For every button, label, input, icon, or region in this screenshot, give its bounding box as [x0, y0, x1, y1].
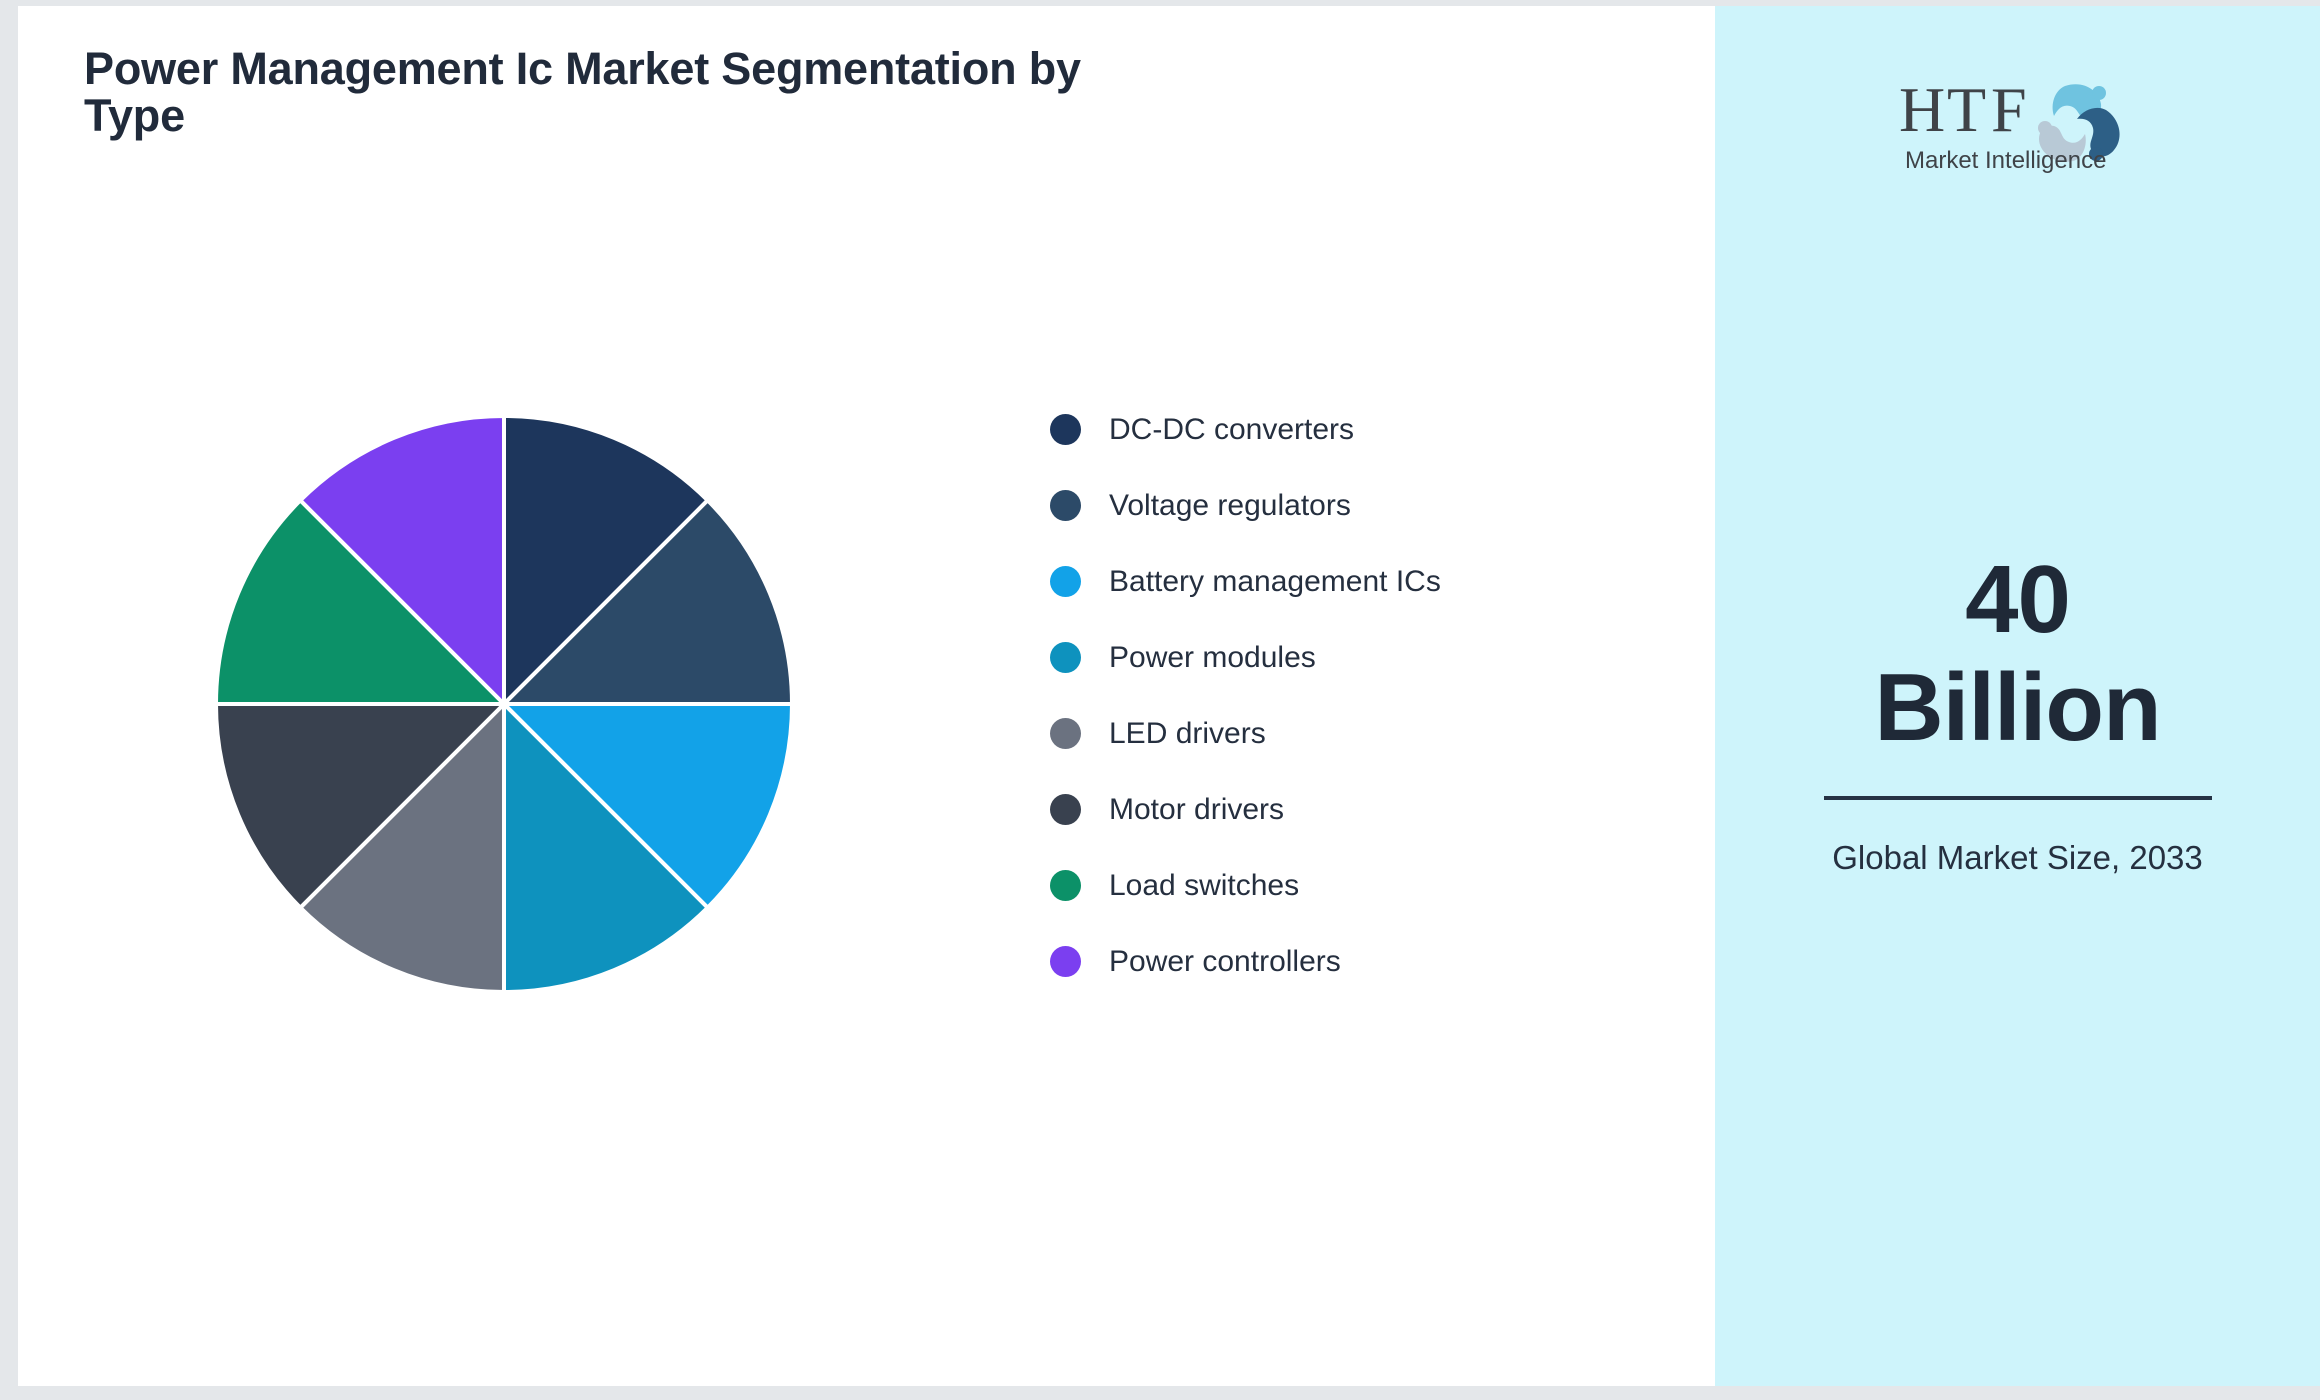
svg-text:F: F: [1991, 74, 2027, 145]
stat-value-line-2: Billion: [1788, 654, 2248, 762]
pie-slice-group: [216, 416, 792, 992]
legend-item[interactable]: Voltage regulators: [1050, 490, 1441, 521]
legend-swatch-icon: [1050, 414, 1081, 445]
pie-chart-svg: [214, 414, 794, 994]
svg-text:H: H: [1899, 74, 1945, 145]
htf-logo-svg: H T F Market Intelligence: [1893, 68, 2143, 176]
pie-chart: [214, 414, 794, 994]
legend-swatch-icon: [1050, 946, 1081, 977]
stat-caption: Global Market Size, 2033: [1788, 836, 2248, 880]
stat-value-line-1: 40: [1788, 546, 2248, 654]
legend-swatch-icon: [1050, 566, 1081, 597]
htf-logo-icon: H T F Market Intelligence: [1893, 68, 2143, 176]
content-card: Power Management Ic Market Segmentation …: [18, 6, 2320, 1386]
legend-item[interactable]: Battery management ICs: [1050, 566, 1441, 597]
legend-label: Battery management ICs: [1109, 567, 1441, 597]
legend-item[interactable]: Load switches: [1050, 870, 1441, 901]
legend-swatch-icon: [1050, 642, 1081, 673]
legend-label: LED drivers: [1109, 719, 1266, 749]
chart-legend: DC-DC convertersVoltage regulatorsBatter…: [1050, 414, 1441, 977]
legend-item[interactable]: LED drivers: [1050, 718, 1441, 749]
legend-item[interactable]: Power modules: [1050, 642, 1441, 673]
legend-label: Load switches: [1109, 871, 1299, 901]
stat-divider: [1824, 796, 2212, 800]
page-title: Power Management Ic Market Segmentation …: [84, 46, 1084, 140]
legend-swatch-icon: [1050, 490, 1081, 521]
legend-swatch-icon: [1050, 794, 1081, 825]
svg-text:Market Intelligence: Market Intelligence: [1905, 147, 2106, 174]
legend-label: Power controllers: [1109, 947, 1341, 977]
legend-label: Motor drivers: [1109, 795, 1284, 825]
legend-swatch-icon: [1050, 718, 1081, 749]
legend-label: Power modules: [1109, 643, 1316, 673]
legend-label: DC-DC converters: [1109, 415, 1354, 445]
legend-swatch-icon: [1050, 870, 1081, 901]
chart-pane: Power Management Ic Market Segmentation …: [18, 6, 1715, 1386]
legend-label: Voltage regulators: [1109, 491, 1351, 521]
svg-text:T: T: [1947, 74, 1986, 145]
legend-item[interactable]: Motor drivers: [1050, 794, 1441, 825]
legend-item[interactable]: DC-DC converters: [1050, 414, 1441, 445]
stat-block: 40 Billion Global Market Size, 2033: [1788, 546, 2248, 880]
infographic-root: Power Management Ic Market Segmentation …: [0, 0, 2320, 1400]
stat-value: 40 Billion: [1788, 546, 2248, 761]
legend-item[interactable]: Power controllers: [1050, 946, 1441, 977]
stat-pane: H T F Market Intelligence: [1715, 6, 2320, 1386]
